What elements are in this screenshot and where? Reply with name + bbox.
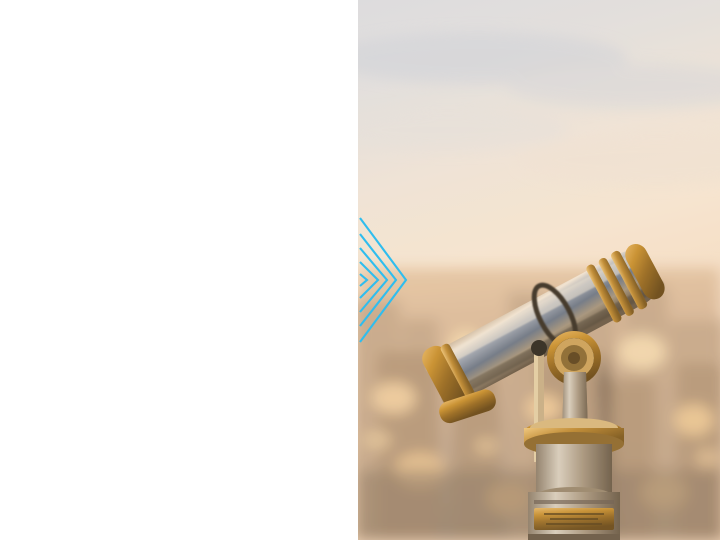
telescope-cityscape-photo — [358, 0, 720, 540]
left-content-panel — [0, 0, 358, 540]
report-cover-page: svb Asset Management Quarterly Economic … — [0, 0, 720, 540]
